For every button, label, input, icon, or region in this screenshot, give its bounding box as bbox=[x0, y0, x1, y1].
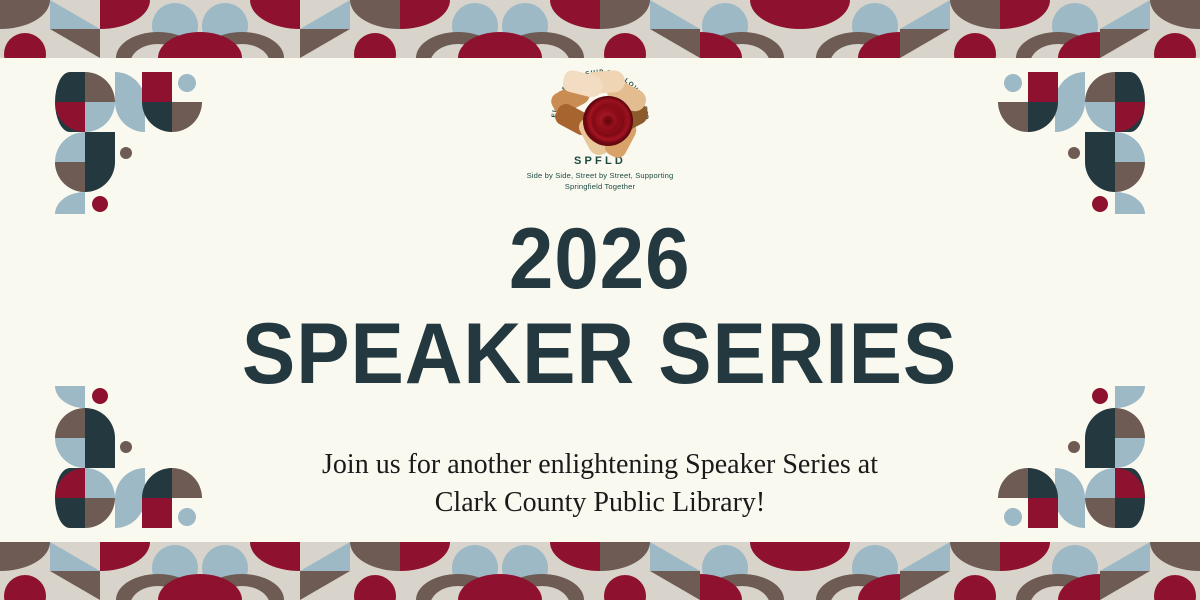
logo-tagline-line-2: Springfield Together bbox=[527, 181, 674, 192]
event-banner: SPRINGFIELD PARTNERSHIP FOR LOVING DIREC… bbox=[0, 0, 1200, 600]
rose-in-hands-logo-icon: SPRINGFIELD PARTNERSHIP FOR LOVING DIREC… bbox=[541, 62, 659, 151]
logo-tagline: Side by Side, Street by Street, Supporti… bbox=[527, 170, 674, 192]
banner-content: SPRINGFIELD PARTNERSHIP FOR LOVING DIREC… bbox=[0, 0, 1200, 600]
rose-icon bbox=[583, 96, 633, 146]
subtitle-line-1: Join us for another enlightening Speaker… bbox=[322, 446, 878, 484]
headline-year: 2026 bbox=[509, 216, 691, 302]
hands-ring-icon bbox=[553, 73, 647, 151]
logo-tagline-line-1: Side by Side, Street by Street, Supporti… bbox=[527, 170, 674, 181]
subtitle-line-2: Clark County Public Library! bbox=[322, 484, 878, 522]
subtitle: Join us for another enlightening Speaker… bbox=[322, 446, 878, 522]
headline-main: SPEAKER SERIES bbox=[242, 308, 957, 400]
organization-logo: SPRINGFIELD PARTNERSHIP FOR LOVING DIREC… bbox=[515, 62, 685, 192]
